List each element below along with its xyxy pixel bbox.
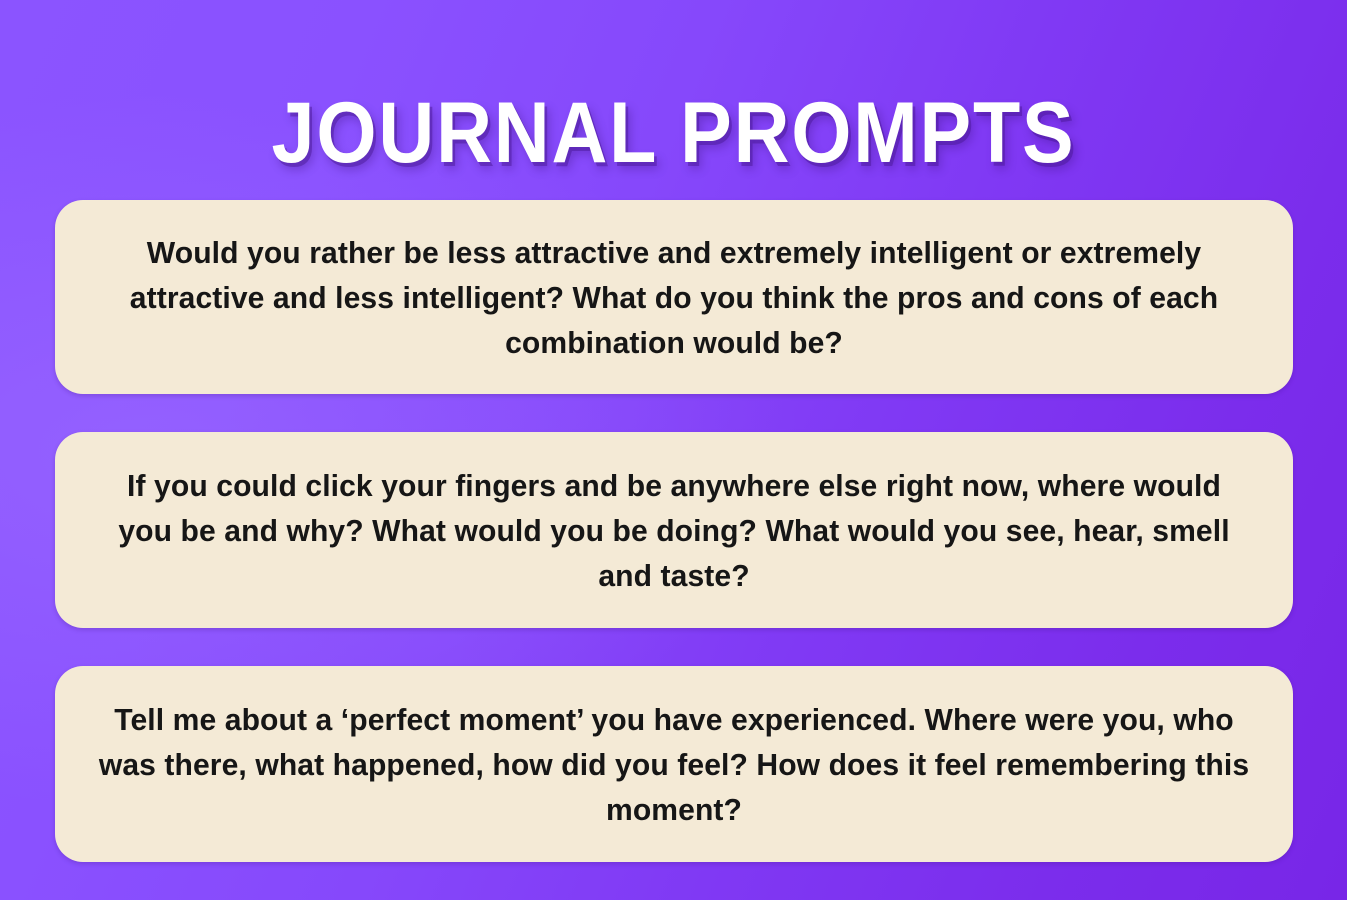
prompt-text: If you could click your fingers and be a…	[99, 463, 1249, 598]
prompt-card[interactable]: Would you rather be less attractive and …	[55, 200, 1293, 394]
journal-prompts-poster: JOURNAL PROMPTS Would you rather be less…	[0, 0, 1347, 900]
prompt-card-list: Would you rather be less attractive and …	[55, 200, 1293, 862]
page-title: JOURNAL PROMPTS	[67, 90, 1279, 176]
prompt-text: Would you rather be less attractive and …	[99, 230, 1249, 365]
prompt-card[interactable]: If you could click your fingers and be a…	[55, 432, 1293, 628]
prompt-text: Tell me about a ‘perfect moment’ you hav…	[99, 697, 1249, 832]
prompt-card[interactable]: Tell me about a ‘perfect moment’ you hav…	[55, 666, 1293, 862]
